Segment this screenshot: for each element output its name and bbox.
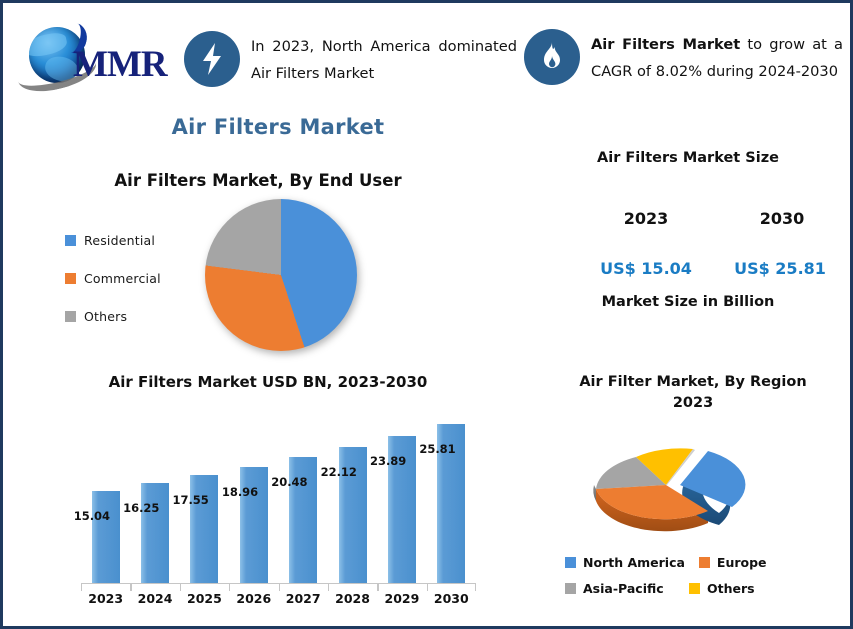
bar-value-2028: 22.12 bbox=[321, 465, 357, 479]
header-right-bold: Air Filters Market bbox=[591, 36, 740, 53]
axis-tick bbox=[229, 584, 230, 591]
header: MMR In 2023, North America dominated Air… bbox=[3, 3, 850, 111]
axis-tick bbox=[130, 584, 131, 591]
region-legend-row-2: Asia-Pacific Others bbox=[565, 575, 845, 601]
axis-label-2030: 2030 bbox=[426, 591, 476, 606]
market-size-year-2030: 2030 bbox=[727, 209, 837, 228]
market-size-value-2023: US$ 15.04 bbox=[581, 259, 711, 278]
bar-value-2026: 18.96 bbox=[222, 485, 258, 499]
axis-tick bbox=[475, 584, 476, 591]
bar-2024 bbox=[141, 483, 169, 583]
axis-tick bbox=[328, 584, 329, 591]
market-size-year-2023: 2023 bbox=[591, 209, 701, 228]
legend-swatch-europe bbox=[699, 557, 710, 568]
legend-item-north-america: North America bbox=[565, 555, 685, 570]
axis-label-2027: 2027 bbox=[278, 591, 328, 606]
lightning-bolt-icon bbox=[184, 31, 240, 87]
infographic-frame: MMR In 2023, North America dominated Air… bbox=[0, 0, 853, 629]
flame-icon bbox=[524, 29, 580, 85]
bar-value-2029: 23.89 bbox=[370, 454, 406, 468]
legend-item-europe: Europe bbox=[699, 555, 767, 570]
bar-value-2025: 17.55 bbox=[172, 493, 208, 507]
axis-tick bbox=[279, 584, 280, 591]
header-left-text: In 2023, North America dominated Air Fil… bbox=[251, 33, 517, 87]
legend-item-asia-pacific: Asia-Pacific bbox=[565, 581, 689, 596]
bar-value-2027: 20.48 bbox=[271, 475, 307, 489]
bar-value-2030: 25.81 bbox=[419, 442, 455, 456]
end-user-pie-chart bbox=[205, 199, 357, 351]
page-title: Air Filters Market bbox=[3, 115, 553, 139]
legend-item-others: Others bbox=[65, 297, 185, 335]
region-legend: North America Europe Asia-Pacific Others bbox=[565, 549, 845, 601]
end-user-chart-title: Air Filters Market, By End User bbox=[43, 171, 473, 190]
region-title-line2: 2023 bbox=[543, 393, 843, 414]
legend-label-others: Others bbox=[84, 309, 127, 324]
region-title-line1: Air Filter Market, By Region bbox=[543, 372, 843, 393]
end-user-legend: Residential Commercial Others bbox=[65, 221, 185, 335]
bar-chart-axis bbox=[81, 583, 476, 590]
legend-swatch-residential bbox=[65, 235, 76, 246]
legend-label-commercial: Commercial bbox=[84, 271, 161, 286]
axis-label-2028: 2028 bbox=[328, 591, 378, 606]
axis-tick bbox=[180, 584, 181, 591]
legend-item-commercial: Commercial bbox=[65, 259, 185, 297]
axis-label-2025: 2025 bbox=[179, 591, 229, 606]
legend-swatch-others bbox=[65, 311, 76, 322]
legend-swatch-asia-pacific bbox=[565, 583, 576, 594]
axis-label-2029: 2029 bbox=[377, 591, 427, 606]
market-size-value-2030: US$ 25.81 bbox=[715, 259, 845, 278]
region-pie-chart bbox=[578, 427, 808, 539]
legend-label-others-region: Others bbox=[707, 581, 755, 596]
axis-label-2024: 2024 bbox=[130, 591, 180, 606]
legend-item-others-region: Others bbox=[689, 581, 755, 596]
bar-2025 bbox=[190, 475, 218, 583]
mmr-logo: MMR bbox=[17, 21, 177, 93]
legend-swatch-north-america bbox=[565, 557, 576, 568]
legend-item-residential: Residential bbox=[65, 221, 185, 259]
logo-text: MMR bbox=[73, 43, 167, 86]
axis-tick bbox=[81, 584, 82, 591]
bar-value-2024: 16.25 bbox=[123, 501, 159, 515]
market-size-title: Air Filters Market Size bbox=[533, 150, 843, 166]
legend-label-residential: Residential bbox=[84, 233, 155, 248]
axis-tick bbox=[427, 584, 428, 591]
axis-tick bbox=[377, 584, 378, 591]
legend-swatch-commercial bbox=[65, 273, 76, 284]
axis-label-2026: 2026 bbox=[229, 591, 279, 606]
bar-chart-plot: 15.0416.2517.5518.9620.4822.1223.8925.81 bbox=[81, 405, 476, 583]
market-size-subtitle: Market Size in Billion bbox=[533, 294, 843, 310]
region-chart-title: Air Filter Market, By Region 2023 bbox=[543, 372, 843, 414]
bar-chart-title: Air Filters Market USD BN, 2023-2030 bbox=[33, 373, 503, 391]
bar-value-2023: 15.04 bbox=[74, 509, 110, 523]
axis-label-2023: 2023 bbox=[81, 591, 131, 606]
bar-2023 bbox=[92, 491, 120, 583]
region-legend-row-1: North America Europe bbox=[565, 549, 845, 575]
header-right-text: Air Filters Market to grow at a CAGR of … bbox=[591, 31, 843, 85]
legend-label-asia-pacific: Asia-Pacific bbox=[583, 581, 664, 596]
legend-label-north-america: North America bbox=[583, 555, 685, 570]
legend-label-europe: Europe bbox=[717, 555, 767, 570]
legend-swatch-others-region bbox=[689, 583, 700, 594]
